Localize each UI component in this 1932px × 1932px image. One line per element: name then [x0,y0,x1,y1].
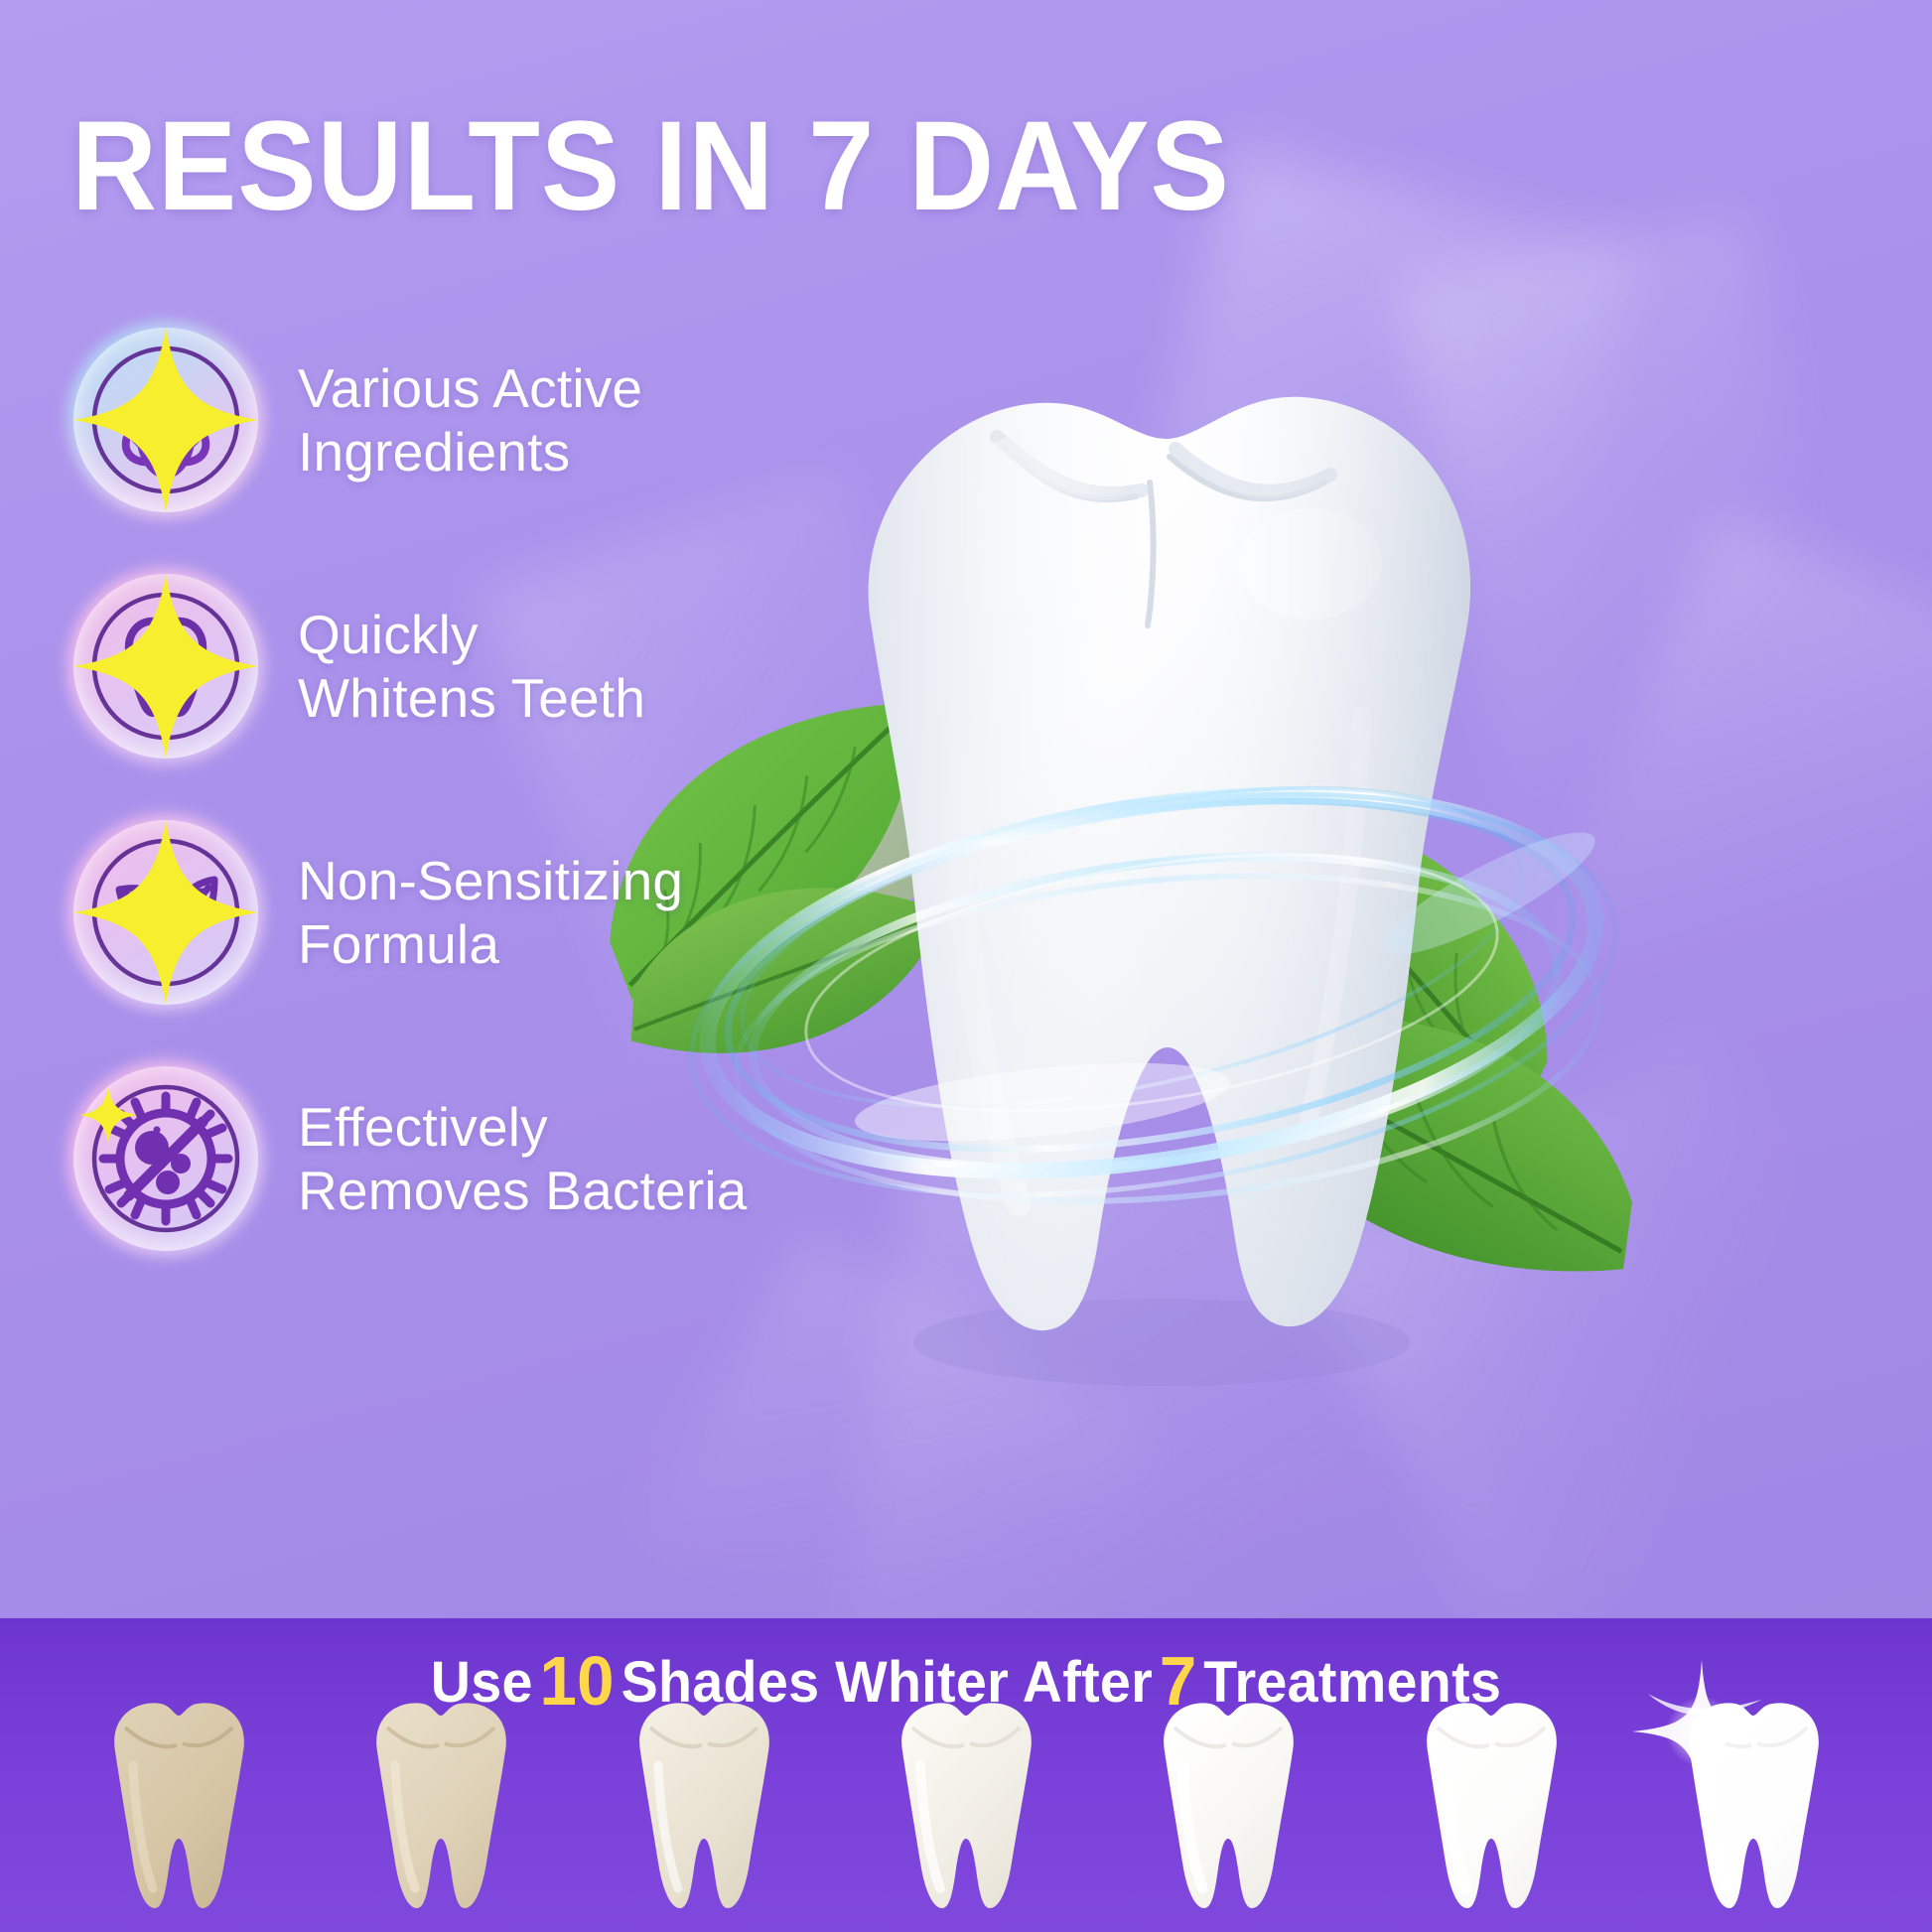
page-title: RESULTS IN 7 DAYS [71,103,1230,230]
atom-icon [73,328,258,512]
feature-label-line1: Non-Sensitizing [298,849,683,912]
bacteria-icon [73,1066,258,1251]
hero-tooth-image [755,298,1569,1410]
shade-result-banner: Use10Shades Whiter After7Treatments [0,1618,1932,1932]
feature-item-non-sensitizing-formula: Non-Sensitizing Formula [73,820,749,1005]
shade-tooth-5 [1149,1694,1308,1924]
feature-label-line1: Effectively [298,1095,748,1159]
feature-label: Non-Sensitizing Formula [298,849,683,977]
sparkle-icon [73,820,258,1005]
feature-label-line2: Whitens Teeth [298,666,645,730]
shade-tooth-3 [624,1694,783,1924]
feature-item-effectively-removes-bacteria: Effectively Removes Bacteria [73,1066,749,1251]
feature-list: Various Active Ingredients Quickly White… [73,328,749,1251]
feature-label-line2: Formula [298,912,683,976]
feature-label-line1: Various Active [298,356,642,420]
tooth-icon [73,574,258,759]
sparkle-icon [73,574,258,759]
feature-item-various-active-ingredients: Various Active Ingredients [73,328,749,512]
feature-label-line2: Removes Bacteria [298,1159,748,1222]
feature-label: Quickly Whitens Teeth [298,603,645,731]
sparkle-icon [79,1086,137,1144]
shade-tooth-6 [1412,1694,1571,1924]
shade-tooth-1 [99,1694,258,1924]
feature-item-quickly-whitens-teeth: Quickly Whitens Teeth [73,574,749,759]
leaf-icon [73,820,258,1005]
feature-label: Various Active Ingredients [298,356,642,484]
shade-tooth-7 [1674,1694,1833,1924]
sparkle-icon [73,328,258,512]
feature-label-line1: Quickly [298,603,645,666]
shade-tooth-4 [887,1694,1045,1924]
product-feature-poster: RESULTS IN 7 DAYS [0,0,1932,1932]
feature-label: Effectively Removes Bacteria [298,1095,748,1223]
feature-label-line2: Ingredients [298,420,642,483]
tooth-shade-scale [0,1684,1932,1932]
shade-tooth-2 [361,1694,520,1924]
